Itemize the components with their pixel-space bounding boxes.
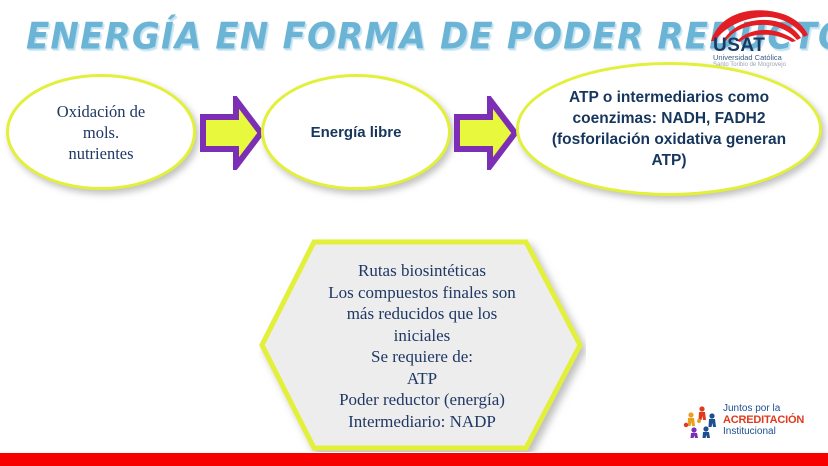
right-arrow-icon-1 — [200, 96, 264, 170]
right-arrow-icon-2 — [454, 96, 518, 170]
slide-canvas: ENERGÍA EN FORMA DE PODER REDUCTOR USAT … — [0, 0, 828, 466]
flow-node-energia-libre[interactable]: Energía libre — [261, 74, 451, 190]
flow-node-oxidacion-label: Oxidación de mols. nutrientes — [9, 77, 193, 187]
people-circle-icon — [683, 404, 719, 438]
bottom-red-bar — [0, 453, 828, 466]
hexagon-rutas-biosinteticas[interactable]: Rutas biosintéticas Los compuestos final… — [258, 238, 586, 452]
flow-node-energia-libre-label: Energía libre — [264, 77, 448, 187]
hexagon-label: Rutas biosintéticas Los compuestos final… — [302, 258, 542, 434]
flow-node-atp-label: ATP o intermediarios como coenzimas: NAD… — [519, 65, 819, 193]
flow-node-atp[interactable]: ATP o intermediarios como coenzimas: NAD… — [516, 62, 822, 196]
accreditation-logo: Juntos por la ACREDITACIÓN Institucional — [683, 402, 813, 440]
page-title: ENERGÍA EN FORMA DE PODER REDUCTOR — [26, 12, 726, 62]
accreditation-line-3: Institucional — [723, 426, 776, 438]
flow-node-oxidacion[interactable]: Oxidación de mols. nutrientes — [6, 74, 196, 190]
usat-logo: USAT Universidad Católica Santo Toribio … — [703, 8, 815, 70]
